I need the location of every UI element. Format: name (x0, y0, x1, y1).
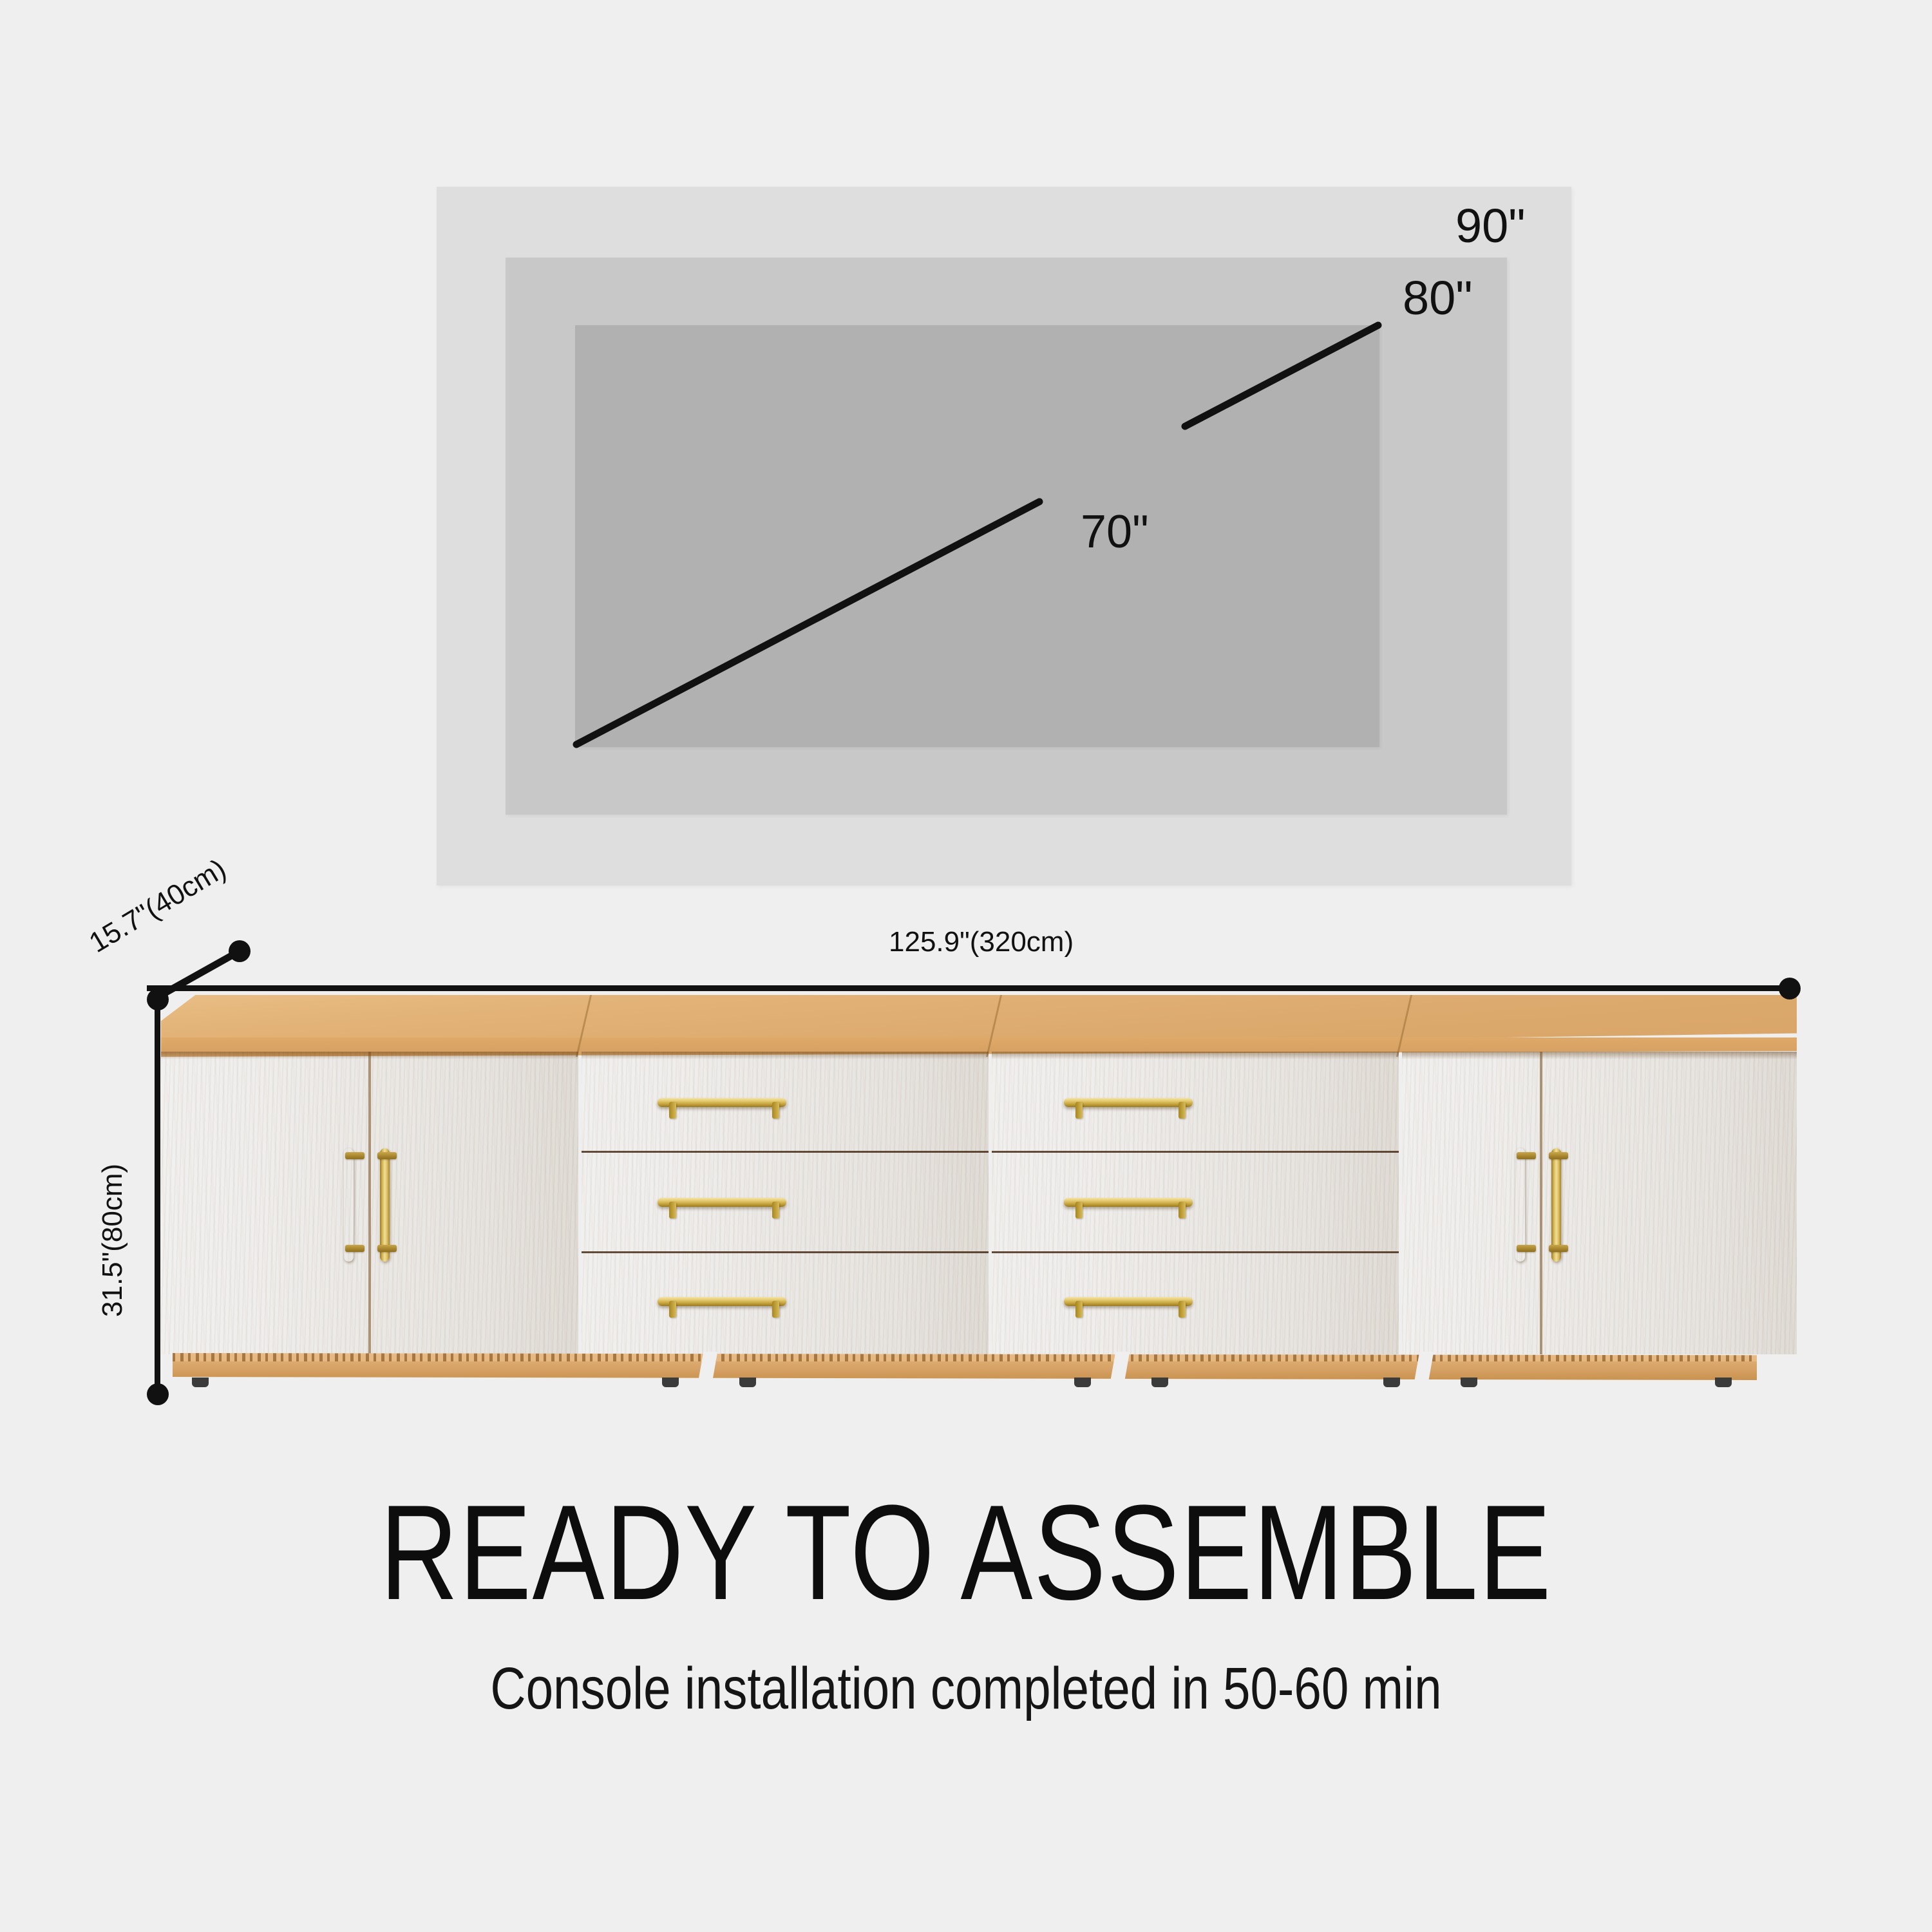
cabinet-body (161, 1052, 1797, 1354)
drawer-handle-horizontal[interactable] (1064, 1198, 1193, 1207)
cabinet-plinth (173, 1353, 1757, 1387)
handle-mount-stub (1549, 1245, 1568, 1252)
drawer-rows (582, 1052, 989, 1354)
handle-mount-stub (345, 1245, 365, 1252)
drawer-row[interactable] (582, 1052, 989, 1153)
dimension-label-depth: 15.7"(40cm) (84, 853, 232, 960)
cabinet-top-surface (161, 995, 1797, 1057)
handle-mount-stub (1517, 1245, 1536, 1252)
handle-mount-stub (1517, 1152, 1536, 1159)
module-door-pair-left[interactable] (161, 1052, 578, 1354)
headline: READY TO ASSEMBLE (193, 1481, 1739, 1625)
handle-mount-stub (1075, 1102, 1083, 1119)
dimension-label-width: 125.9"(320cm) (889, 926, 1074, 958)
drawer-handle-horizontal[interactable] (658, 1098, 786, 1107)
handle-mount-stub (669, 1301, 676, 1318)
module-drawer-stack-b[interactable] (992, 1052, 1399, 1354)
drawer-row[interactable] (582, 1153, 989, 1254)
module-door-pair-right[interactable] (1402, 1052, 1797, 1354)
drawer-handle-horizontal[interactable] (658, 1297, 786, 1306)
cabinet-foot (662, 1378, 679, 1387)
subheadline: Console installation completed in 50-60 … (164, 1655, 1768, 1723)
tv-label-90in: 90" (1455, 198, 1526, 253)
door-center-seam (1540, 1052, 1542, 1354)
handle-mount-stub (1075, 1202, 1083, 1218)
drawer-handle-horizontal[interactable] (658, 1198, 786, 1207)
cabinet-foot (1383, 1378, 1400, 1387)
handle-mount-stub (1179, 1301, 1186, 1318)
cabinet-foot (1151, 1378, 1168, 1387)
handle-mount-stub (1179, 1102, 1186, 1119)
drawer-row[interactable] (992, 1052, 1399, 1153)
drawer-row[interactable] (992, 1153, 1399, 1254)
module-drawer-stack-a[interactable] (582, 1052, 989, 1354)
dimension-line-height (155, 995, 160, 1394)
module-shading (1402, 1052, 1797, 1354)
drawer-handle-horizontal[interactable] (1064, 1297, 1193, 1306)
handle-mount-stub (377, 1152, 397, 1159)
flute-bottom-teeth (173, 1353, 1757, 1361)
handle-mount-stub (772, 1102, 779, 1119)
drawer-row[interactable] (992, 1253, 1399, 1354)
drawer-handle-horizontal[interactable] (1064, 1098, 1193, 1107)
drawer-row[interactable] (582, 1253, 989, 1354)
tv-diagonal-measure-line (437, 187, 1571, 885)
handle-mount-stub (669, 1202, 676, 1218)
infographic-canvas: 90" 80" 70" (0, 0, 1932, 1932)
dimension-label-height: 31.5"(80cm) (97, 1164, 129, 1317)
cabinet-foot (192, 1378, 209, 1387)
tv-size-diagram: 90" 80" 70" (437, 187, 1571, 885)
handle-mount-stub (669, 1102, 676, 1119)
tv-label-70in: 70" (1081, 506, 1149, 558)
handle-mount-stub (345, 1152, 365, 1159)
handle-mount-stub (772, 1202, 779, 1218)
plinth-slab (173, 1353, 1757, 1380)
cabinet-foot (739, 1378, 756, 1387)
tv-label-80in: 80" (1403, 270, 1473, 325)
handle-mount-stub (1075, 1301, 1083, 1318)
top-inner-shadow (1402, 1052, 1797, 1059)
cabinet-foot (1461, 1378, 1477, 1387)
dimension-line-width (147, 985, 1792, 991)
handle-mount-stub (1179, 1202, 1186, 1218)
drawer-rows (992, 1052, 1399, 1354)
handle-mount-stub (772, 1301, 779, 1318)
console-product-image (161, 995, 1800, 1407)
cabinet-foot (1074, 1378, 1091, 1387)
handle-mount-stub (377, 1245, 397, 1252)
handle-mount-stub (1549, 1152, 1568, 1159)
cabinet-foot (1715, 1378, 1732, 1387)
door-center-seam (368, 1052, 371, 1354)
